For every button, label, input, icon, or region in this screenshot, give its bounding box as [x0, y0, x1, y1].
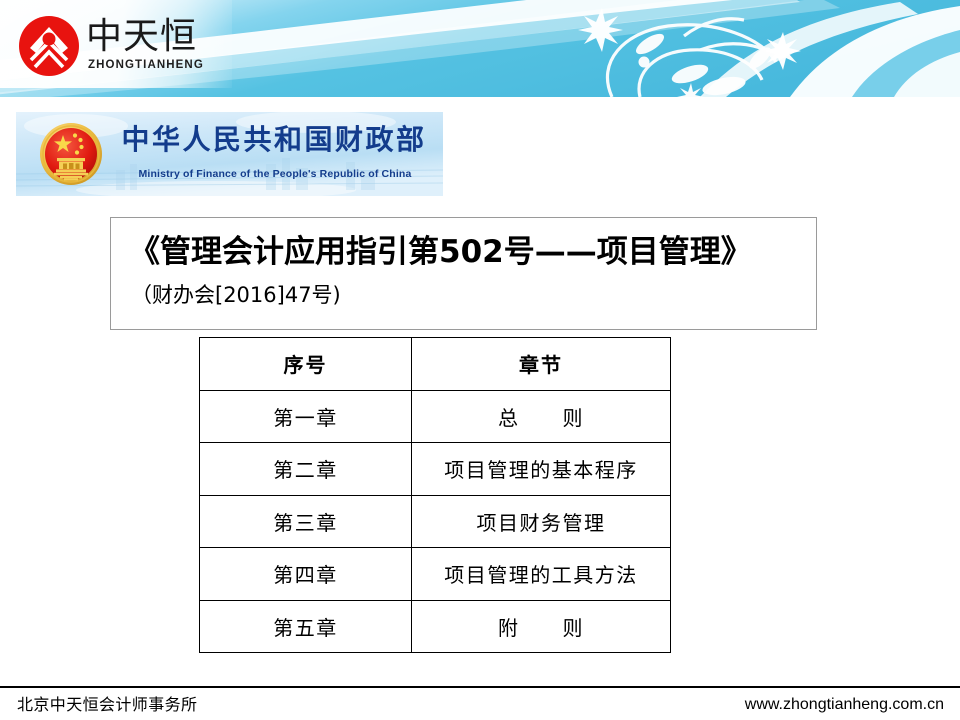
cell-chapter-no: 第三章: [200, 495, 412, 548]
column-header-section: 章节: [412, 338, 671, 391]
page-header-banner: 中天恒 ZHONGTIANHENG: [0, 0, 960, 97]
company-logo[interactable]: 中天恒 ZHONGTIANHENG: [18, 12, 228, 80]
cell-chapter-section: 项目管理的基本程序: [412, 443, 671, 496]
table-row: 第一章 总 则: [200, 390, 671, 443]
logo-chinese-name: 中天恒: [86, 17, 226, 57]
table-row: 第四章 项目管理的工具方法: [200, 548, 671, 601]
cell-chapter-no: 第五章: [200, 600, 412, 653]
table-row: 第二章 项目管理的基本程序: [200, 443, 671, 496]
logo-wordmark: 中天恒 ZHONGTIANHENG: [86, 15, 226, 77]
ministry-of-finance-banner: 中华人民共和国财政部 Ministry of Finance of the Pe…: [16, 112, 443, 196]
cell-chapter-no: 第二章: [200, 443, 412, 496]
cell-chapter-section: 项目财务管理: [412, 495, 671, 548]
mof-title-chinese: 中华人民共和国财政部: [119, 123, 429, 157]
footer-organization: 北京中天恒会计师事务所: [17, 694, 197, 716]
document-number: （财办会[2016]47号): [131, 280, 801, 310]
zhongtianheng-mountain-logo-icon: [18, 15, 80, 77]
table-row: 第三章 项目财务管理: [200, 495, 671, 548]
cell-chapter-section: 总 则: [412, 390, 671, 443]
mof-title-english: Ministry of Finance of the People's Repu…: [119, 168, 431, 180]
logo-pinyin-name: ZHONGTIANHENG: [88, 59, 204, 71]
column-header-no: 序号: [200, 338, 412, 391]
chapter-table: 序号 章节 第一章 总 则 第二章 项目管理的基本程序 第三章 项目财务管理 第…: [199, 337, 671, 653]
cell-chapter-no: 第一章: [200, 390, 412, 443]
page-title: 《管理会计应用指引第502号——项目管理》: [129, 231, 799, 273]
cell-chapter-section: 附 则: [412, 600, 671, 653]
footer-divider: [0, 686, 960, 688]
table-header-row: 序号 章节: [200, 338, 671, 391]
cell-chapter-section: 项目管理的工具方法: [412, 548, 671, 601]
cell-chapter-no: 第四章: [200, 548, 412, 601]
footer-website[interactable]: www.zhongtianheng.com.cn: [745, 694, 944, 716]
guideline-title-box: 《管理会计应用指引第502号——项目管理》 （财办会[2016]47号): [110, 217, 817, 330]
table-row: 第五章 附 则: [200, 600, 671, 653]
china-national-emblem-icon: [37, 120, 105, 188]
